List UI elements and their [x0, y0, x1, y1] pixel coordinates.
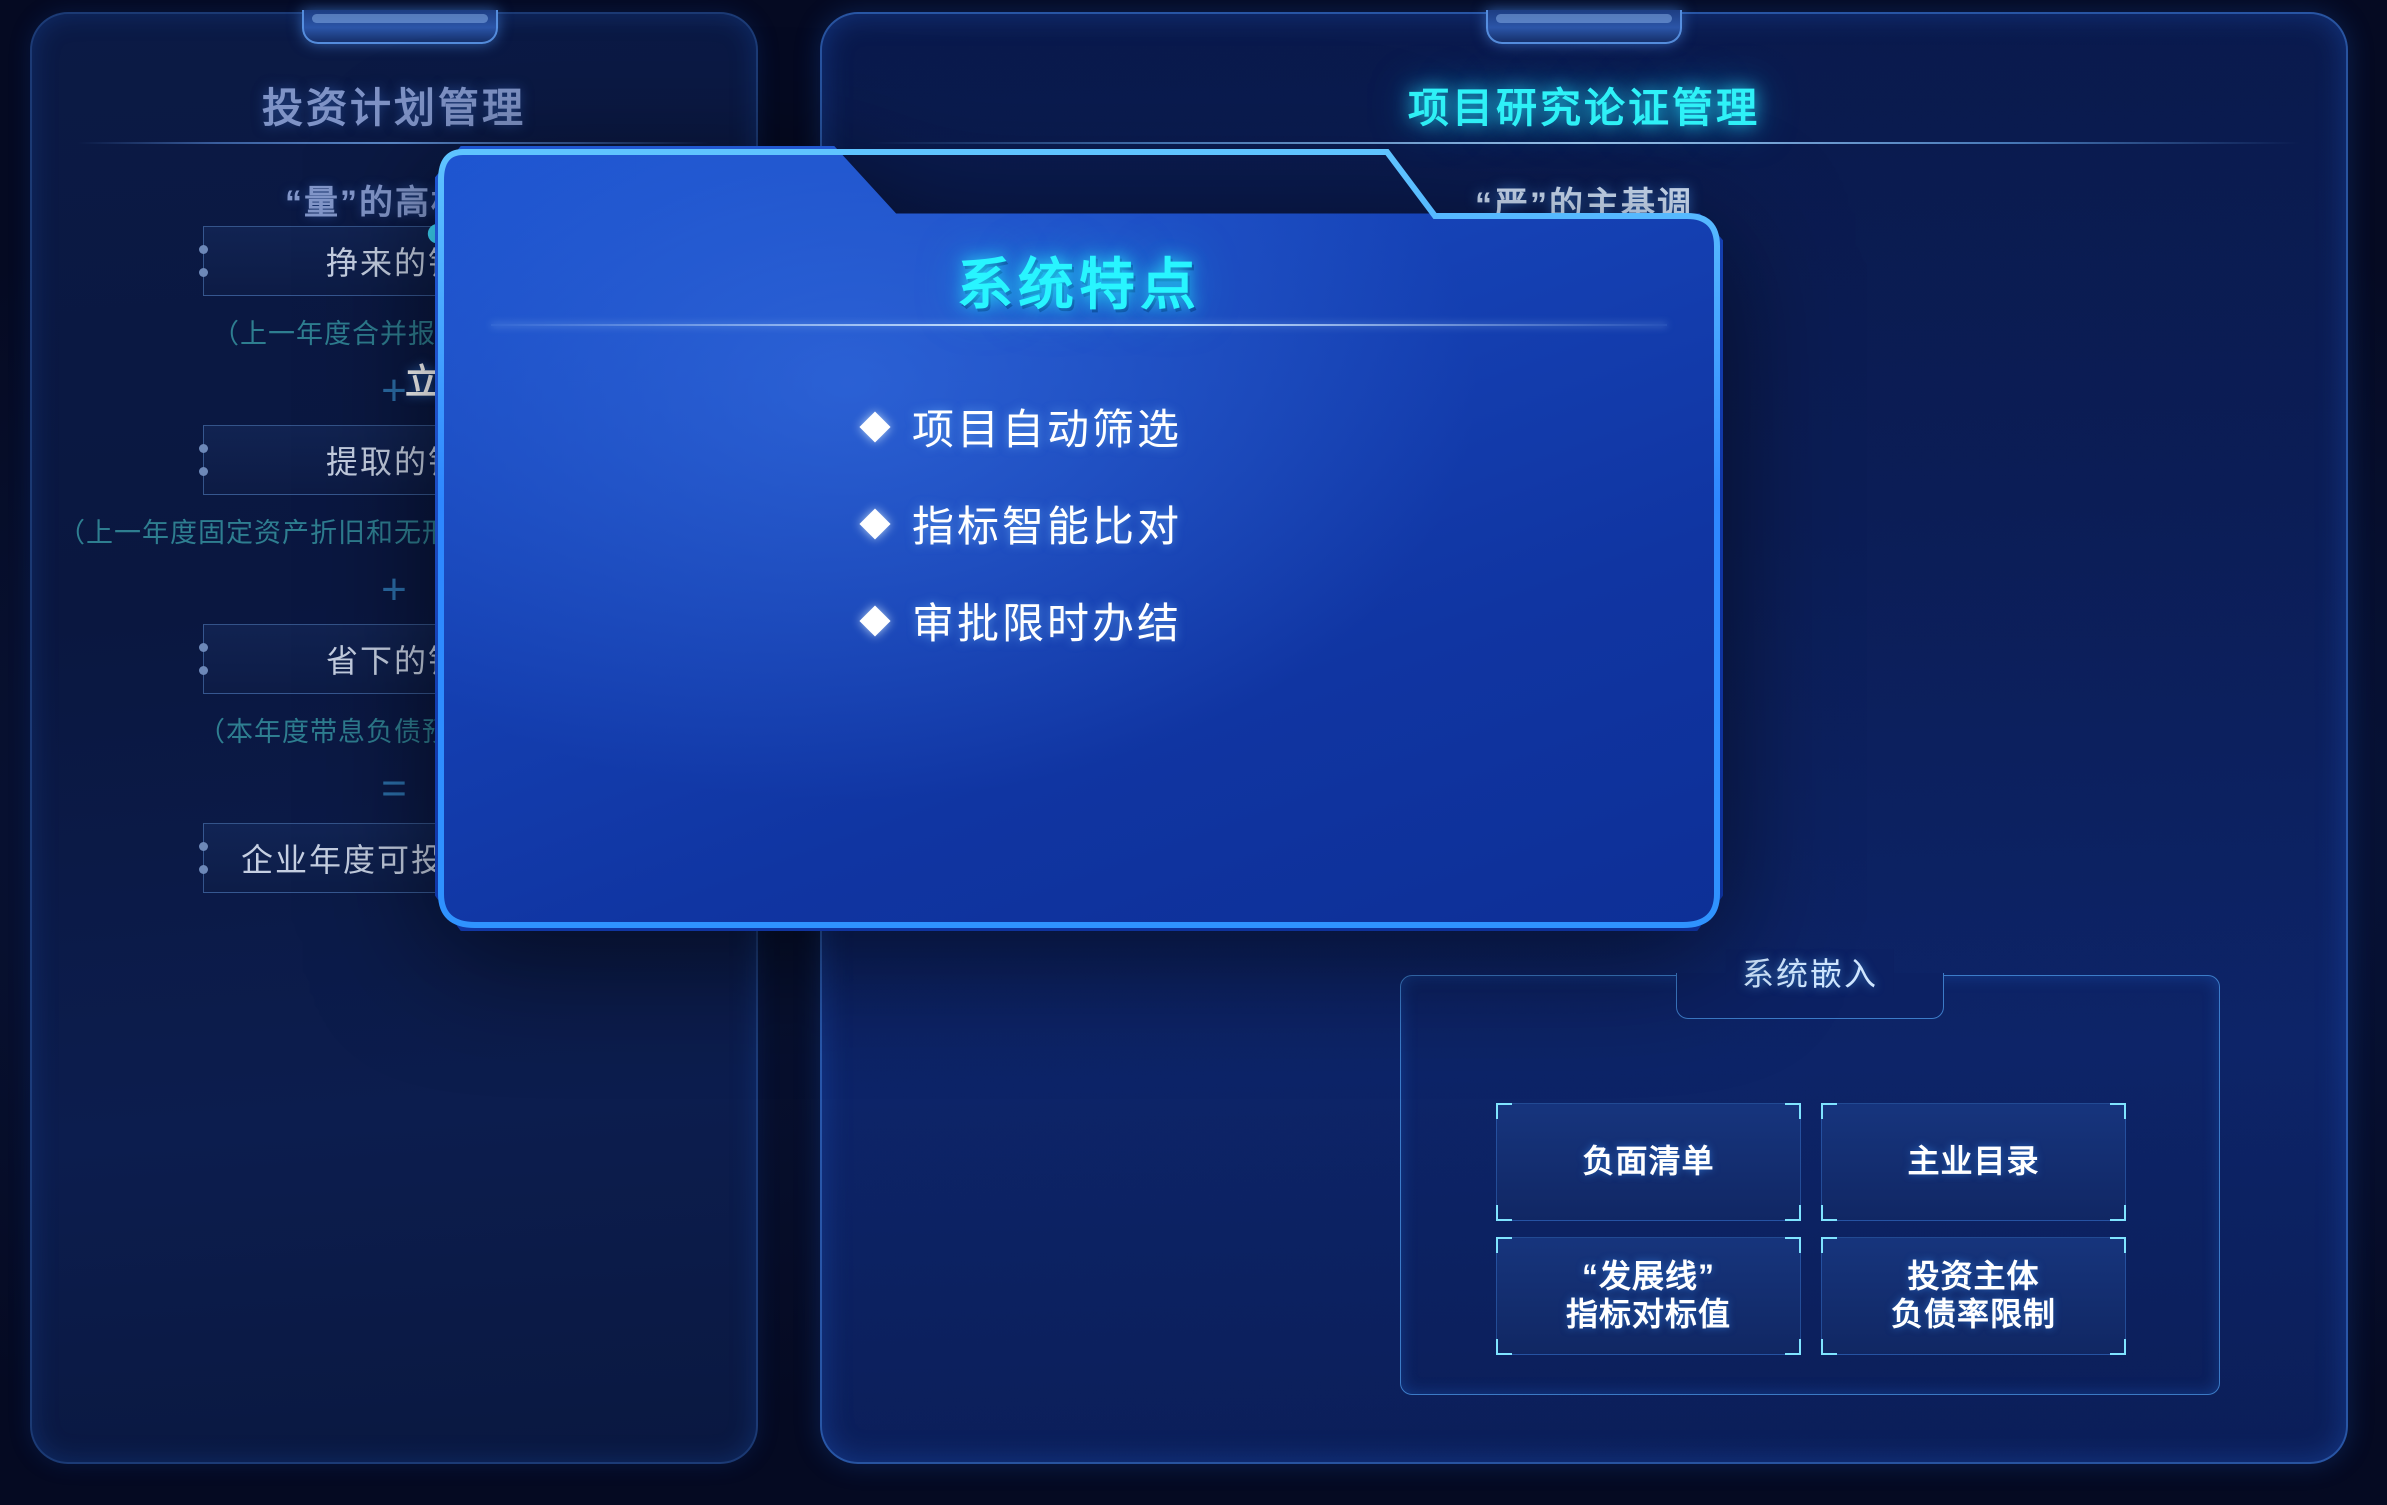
corner-mark-icon [1496, 1237, 1512, 1253]
app-stage: 投资计划管理 “量”的高标准 挣来的钱 （上一年度合并报表净利润） + 提取的钱… [0, 0, 2387, 1505]
embed-box-line1: 负面清单 [1582, 1143, 1714, 1179]
embed-box-line1: “发展线” [1582, 1258, 1715, 1294]
embed-box-investor-debt-limit[interactable]: 投资主体 负债率限制 [1821, 1237, 2126, 1355]
modal-feature-label: 审批限时办结 [912, 590, 1182, 651]
corner-mark-icon [2110, 1339, 2126, 1355]
panel-left-title: 投资计划管理 [30, 74, 758, 134]
modal-feature-label: 项目自动筛选 [912, 396, 1182, 457]
diamond-bullet-icon [859, 508, 890, 539]
corner-mark-icon [1785, 1205, 1801, 1221]
corner-mark-icon [1496, 1339, 1512, 1355]
corner-mark-icon [1785, 1339, 1801, 1355]
modal-feature-list: 项目自动筛选 指标智能比对 审批限时办结 [435, 396, 1723, 651]
corner-mark-icon [1821, 1339, 1837, 1355]
panel-left-top-notch [302, 10, 498, 44]
modal-feature-item: 项目自动筛选 [864, 396, 1294, 457]
corner-mark-icon [1821, 1237, 1837, 1253]
embed-box-main-business-catalog[interactable]: 主业目录 [1821, 1103, 2126, 1221]
corner-mark-icon [1821, 1205, 1837, 1221]
corner-mark-icon [1785, 1237, 1801, 1253]
panel-right-top-notch [1486, 10, 1682, 44]
embed-box-line1: 主业目录 [1907, 1143, 2039, 1179]
embed-box-negative-list[interactable]: 负面清单 [1496, 1103, 1801, 1221]
system-features-modal: 系统特点 项目自动筛选 指标智能比对 审批限时办结 [435, 146, 1723, 931]
modal-title-divider [491, 324, 1667, 326]
system-embed-grid: 负面清单 主业目录 “发展线” 指标对标值 投资主体 [1496, 1103, 2126, 1355]
modal-feature-label: 指标智能比对 [912, 493, 1182, 554]
corner-mark-icon [2110, 1237, 2126, 1253]
embed-box-development-line[interactable]: “发展线” 指标对标值 [1496, 1237, 1801, 1355]
corner-mark-icon [1821, 1103, 1837, 1119]
corner-mark-icon [2110, 1103, 2126, 1119]
embed-box-line2: 指标对标值 [1566, 1296, 1731, 1332]
embed-box-line1: 投资主体 [1907, 1258, 2039, 1294]
embed-box-line2: 负债率限制 [1891, 1296, 2056, 1332]
corner-mark-icon [1496, 1205, 1512, 1221]
modal-feature-item: 审批限时办结 [864, 590, 1294, 651]
panel-right-title-divider [868, 142, 2300, 144]
panel-right-title: 项目研究论证管理 [820, 74, 2348, 134]
corner-mark-icon [2110, 1205, 2126, 1221]
corner-mark-icon [1785, 1103, 1801, 1119]
system-embed-legend: 系统嵌入 [1726, 949, 1894, 995]
diamond-bullet-icon [859, 411, 890, 442]
corner-mark-icon [1496, 1103, 1512, 1119]
panel-left-title-divider [78, 142, 710, 144]
system-embed-group: 系统嵌入 负面清单 主业目录 “发展线” 指标对标值 [1400, 975, 2220, 1395]
diamond-bullet-icon [859, 605, 890, 636]
modal-feature-item: 指标智能比对 [864, 493, 1294, 554]
modal-title: 系统特点 [435, 240, 1723, 321]
